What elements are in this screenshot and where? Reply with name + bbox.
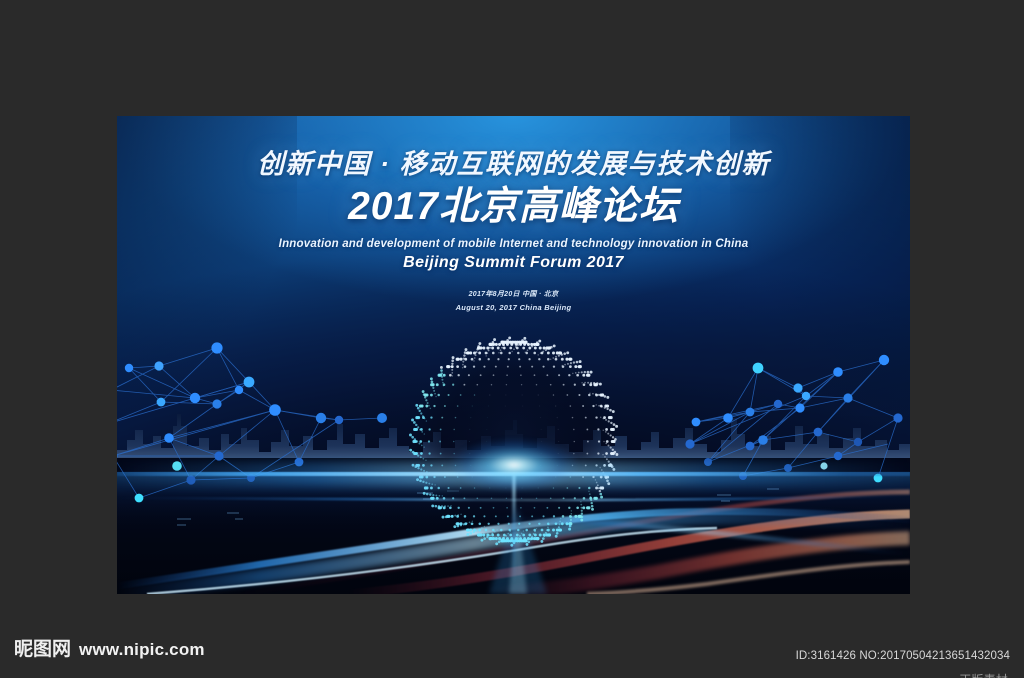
poster-english-subtitle: Innovation and development of mobile Int…: [117, 238, 910, 250]
poster-text-block: 创新中国 · 移动互联网的发展与技术创新 2017北京高峰论坛 Innovati…: [117, 148, 910, 312]
asset-id-label: ID:3161426 NO:20170504213651432034: [796, 650, 1010, 662]
poster-chinese-subtitle: 创新中国 · 移动互联网的发展与技术创新: [117, 148, 910, 180]
poster-date-english: August 20, 2017 China Beijing: [117, 303, 910, 312]
cut-off-caption: 正版素材: [959, 671, 1008, 678]
conference-poster[interactable]: 创新中国 · 移动互联网的发展与技术创新 2017北京高峰论坛 Innovati…: [117, 116, 910, 594]
poster-date-chinese: 2017年8月20日 中国 · 北京: [117, 289, 910, 299]
screenshot-canvas: 创新中国 · 移动互联网的发展与技术创新 2017北京高峰论坛 Innovati…: [0, 0, 1024, 678]
site-logo-url: www.nipic.com: [79, 641, 205, 658]
poster-chinese-title: 2017北京高峰论坛: [117, 186, 910, 229]
site-logo[interactable]: 昵图网 www.nipic.com: [14, 640, 205, 659]
light-burst-ray: [512, 474, 515, 584]
poster-english-title: Beijing Summit Forum 2017: [117, 254, 910, 272]
site-logo-chinese: 昵图网: [14, 640, 71, 659]
